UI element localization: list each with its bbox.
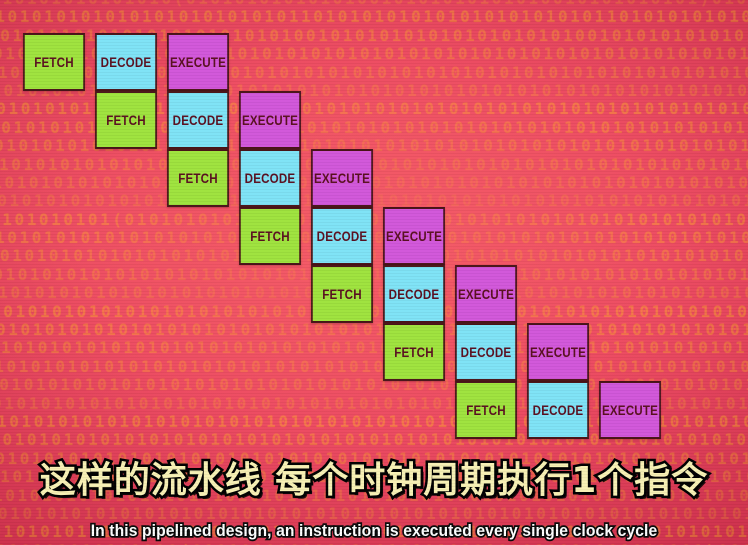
pipeline-cell-label: FETCH (34, 55, 74, 70)
pipeline-cell-decode: DECODE (527, 381, 589, 439)
pipeline-cell-fetch: FETCH (239, 207, 301, 265)
pipeline-cell-fetch: FETCH (383, 323, 445, 381)
pipeline-cell-execute: EXECUTE (383, 207, 445, 265)
pipeline-cell-execute: EXECUTE (527, 323, 589, 381)
screenshot-root: 1010101010101010(01010101010101001010101… (0, 0, 748, 545)
pipeline-cell-label: EXECUTE (314, 171, 370, 186)
pipeline-cell-execute: EXECUTE (167, 33, 229, 91)
pipeline-cell-label: DECODE (533, 403, 584, 418)
pipeline-cell-label: EXECUTE (386, 229, 442, 244)
pipeline-cell-decode: DECODE (167, 91, 229, 149)
pipeline-cell-execute: EXECUTE (599, 381, 661, 439)
pipeline-cell-label: EXECUTE (458, 287, 514, 302)
pipeline-cell-fetch: FETCH (23, 33, 85, 91)
pipeline-cell-label: DECODE (389, 287, 440, 302)
pipeline-cell-fetch: FETCH (95, 91, 157, 149)
pipeline-cell-label: EXECUTE (170, 55, 226, 70)
pipeline-cell-fetch: FETCH (455, 381, 517, 439)
pipeline-cell-label: FETCH (106, 113, 146, 128)
pipeline-cell-label: EXECUTE (602, 403, 658, 418)
pipeline-cell-label: FETCH (394, 345, 434, 360)
pipeline-cell-label: DECODE (317, 229, 368, 244)
pipeline-cell-label: FETCH (178, 171, 218, 186)
pipeline-cell-decode: DECODE (95, 33, 157, 91)
pipeline-cell-execute: EXECUTE (455, 265, 517, 323)
pipeline-cell-label: FETCH (466, 403, 506, 418)
pipeline-cell-decode: DECODE (455, 323, 517, 381)
pipeline-cell-label: DECODE (173, 113, 224, 128)
pipeline-cell-decode: DECODE (383, 265, 445, 323)
pipeline-cell-fetch: FETCH (167, 149, 229, 207)
pipeline-cell-label: FETCH (322, 287, 362, 302)
pipeline-cell-label: EXECUTE (530, 345, 586, 360)
pipeline-cell-execute: EXECUTE (311, 149, 373, 207)
pipeline-cell-label: FETCH (250, 229, 290, 244)
pipeline-cell-fetch: FETCH (311, 265, 373, 323)
pipeline-cell-label: DECODE (461, 345, 512, 360)
pipeline-cell-decode: DECODE (311, 207, 373, 265)
pipeline-diagram: FETCHDECODEEXECUTEFETCHDECODEEXECUTEFETC… (0, 0, 748, 460)
pipeline-cell-label: DECODE (101, 55, 152, 70)
pipeline-cell-execute: EXECUTE (239, 91, 301, 149)
pipeline-cell-decode: DECODE (239, 149, 301, 207)
pipeline-cell-label: DECODE (245, 171, 296, 186)
pipeline-cell-label: EXECUTE (242, 113, 298, 128)
